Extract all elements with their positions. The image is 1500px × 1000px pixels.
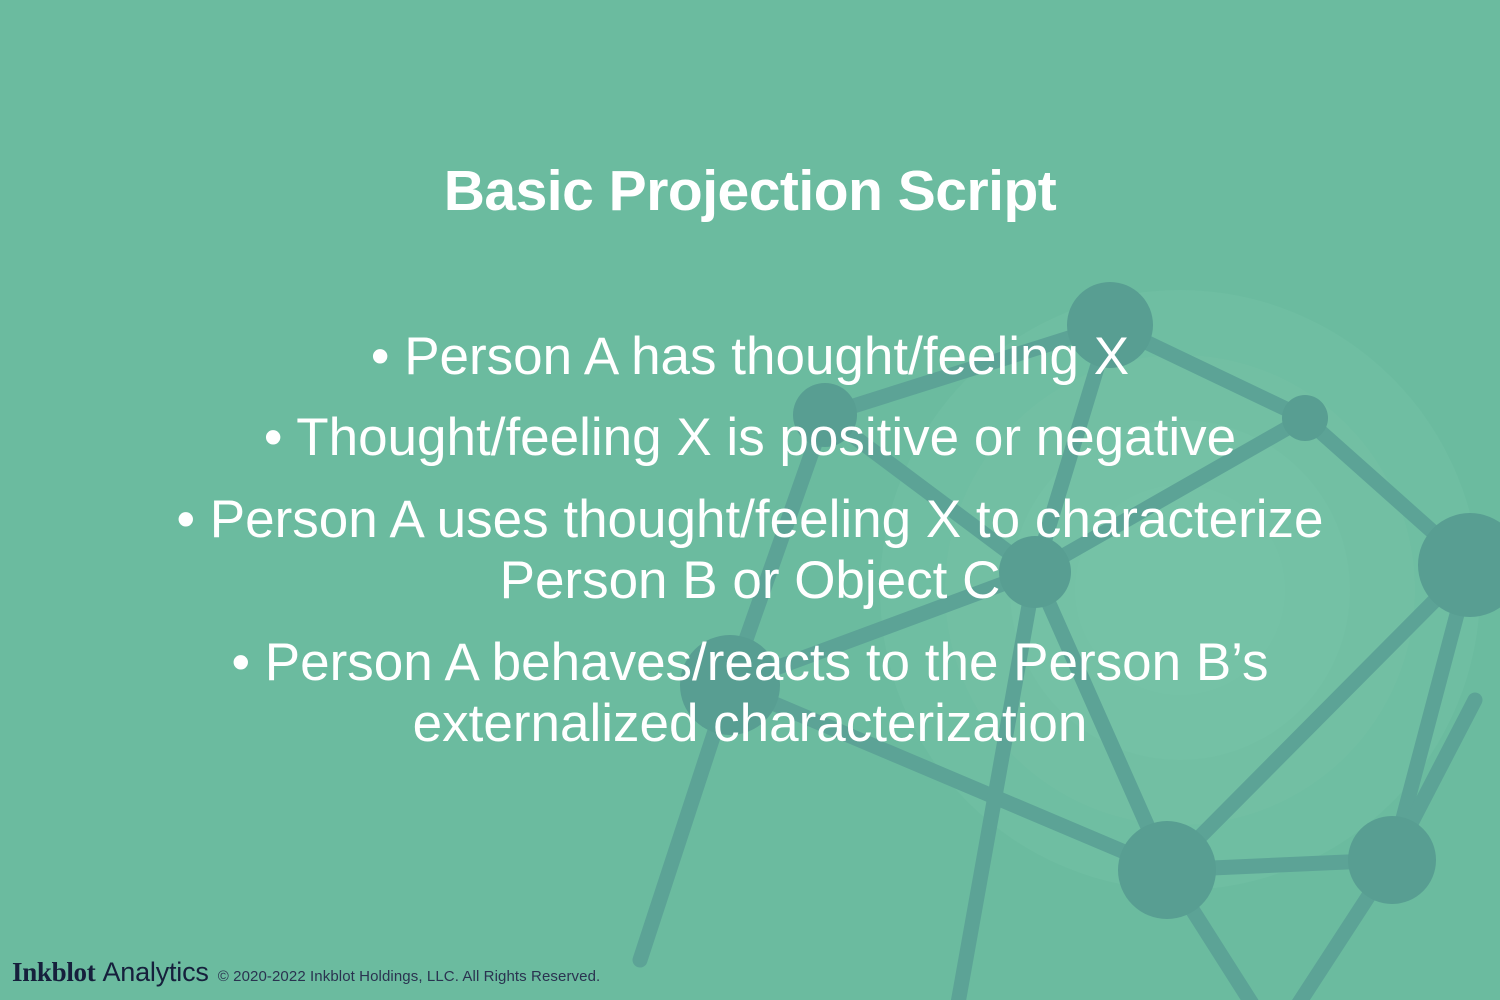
brand-logo: Inkblot Analytics <box>12 957 209 988</box>
bullet-marker: • <box>232 633 251 692</box>
bullet-marker: • <box>264 408 283 467</box>
brand-name-analytics: Analytics <box>102 957 208 988</box>
slide-footer: Inkblot Analytics © 2020-2022 Inkblot Ho… <box>12 957 600 988</box>
list-item-label: Person A behaves/reacts to the Person B’… <box>265 633 1269 753</box>
list-item-label: Person A has thought/feeling X <box>404 327 1129 386</box>
list-item-label: Person A uses thought/feeling X to chara… <box>210 490 1324 610</box>
brand-name-inkblot: Inkblot <box>12 957 95 988</box>
page-title: Basic Projection Script <box>0 160 1500 223</box>
copyright-notice: © 2020-2022 Inkblot Holdings, LLC. All R… <box>218 968 601 985</box>
bullet-list: • Person A has thought/feeling X • Thoug… <box>90 326 1410 775</box>
bullet-marker: • <box>177 490 196 549</box>
list-item-label: Thought/feeling X is positive or negativ… <box>296 408 1236 467</box>
bullet-marker: • <box>371 327 390 386</box>
list-item: • Person A has thought/feeling X <box>90 326 1410 387</box>
presentation-slide: Basic Projection Script • Person A has t… <box>0 0 1500 1000</box>
list-item: • Person A uses thought/feeling X to cha… <box>90 489 1410 612</box>
list-item: • Thought/feeling X is positive or negat… <box>90 407 1410 468</box>
list-item: • Person A behaves/reacts to the Person … <box>90 632 1410 755</box>
